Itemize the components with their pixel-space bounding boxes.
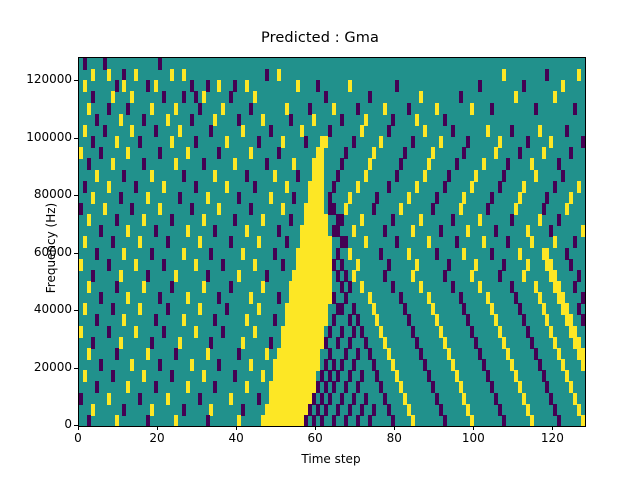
heatmap-cell	[166, 236, 170, 248]
heatmap-cell	[391, 214, 395, 226]
heatmap-cell	[95, 170, 99, 182]
heatmap-cell	[423, 125, 427, 137]
heatmap-cell	[225, 181, 229, 193]
heatmap-cell	[209, 337, 213, 349]
heatmap-cell	[581, 359, 585, 371]
heatmap-cell	[431, 147, 435, 159]
heatmap-cell	[217, 147, 221, 159]
heatmap-cell	[182, 170, 186, 182]
heatmap-cell	[241, 248, 245, 260]
heatmap-cell	[372, 147, 376, 159]
heatmap-cell	[435, 103, 439, 115]
heatmap-cell	[130, 203, 134, 215]
heatmap-cell	[340, 214, 344, 226]
heatmap-cell	[162, 181, 166, 193]
heatmap-cell	[474, 259, 478, 271]
heatmap-cell	[126, 147, 130, 159]
heatmap-cell	[91, 69, 95, 81]
heatmap-cell	[261, 114, 265, 126]
heatmap-cell	[344, 147, 348, 159]
heatmap-cell	[356, 381, 360, 393]
x-axis-tick-label: 0	[48, 431, 108, 445]
heatmap-cell	[245, 170, 249, 182]
heatmap-cell	[336, 170, 340, 182]
heatmap-cell	[83, 236, 87, 248]
x-axis-tick-label: 80	[364, 431, 424, 445]
heatmap-cell	[198, 236, 202, 248]
heatmap-cell	[170, 370, 174, 382]
heatmap-cell	[530, 415, 534, 427]
heatmap-cell	[146, 415, 150, 427]
x-axis-tick	[236, 426, 237, 430]
heatmap-cell	[95, 114, 99, 126]
heatmap-cell	[158, 147, 162, 159]
y-axis-tick	[74, 195, 78, 196]
heatmap-cell	[119, 337, 123, 349]
heatmap-cell	[122, 404, 126, 416]
chart-title: Predicted : Gma	[0, 30, 640, 46]
heatmap-cell	[506, 236, 510, 248]
heatmap-cell	[245, 80, 249, 92]
heatmap-cell	[209, 404, 213, 416]
heatmap-cell	[213, 114, 217, 126]
heatmap-cell	[202, 91, 206, 103]
heatmap-cell	[360, 125, 364, 137]
heatmap-cell	[387, 181, 391, 193]
heatmap-cell	[344, 203, 348, 215]
heatmap-cell	[245, 225, 249, 237]
heatmap-cell	[391, 114, 395, 126]
heatmap-cell	[79, 147, 83, 159]
heatmap-cell	[344, 415, 348, 427]
heatmap-cell	[253, 259, 257, 271]
heatmap-cell	[419, 281, 423, 293]
heatmap-cell	[383, 270, 387, 282]
x-axis-tick-label: 40	[206, 431, 266, 445]
x-axis-tick	[552, 426, 553, 430]
heatmap-cell	[142, 114, 146, 126]
heatmap-cell	[138, 393, 142, 405]
heatmap-cell	[249, 292, 253, 304]
heatmap-cell	[87, 158, 91, 170]
heatmap-cell	[443, 114, 447, 126]
heatmap-cell	[206, 348, 210, 360]
heatmap-cell	[107, 393, 111, 405]
heatmap-cell	[340, 359, 344, 371]
heatmap-cell	[225, 136, 229, 148]
heatmap-cell	[494, 147, 498, 159]
heatmap-cell	[391, 281, 395, 293]
heatmap-cell	[119, 192, 123, 204]
heatmap-cell	[348, 281, 352, 293]
heatmap-cell	[518, 147, 522, 159]
heatmap-cell	[91, 337, 95, 349]
heatmap-cell	[553, 181, 557, 193]
heatmap-cell	[518, 248, 522, 260]
heatmap-cell	[545, 192, 549, 204]
heatmap-cell	[352, 225, 356, 237]
heatmap-cell	[142, 370, 146, 382]
heatmap-cell	[233, 80, 237, 92]
heatmap-cell	[577, 69, 581, 81]
heatmap-cell	[383, 103, 387, 115]
heatmap-cell	[146, 270, 150, 282]
heatmap-cell	[170, 136, 174, 148]
heatmap-cell	[107, 259, 111, 271]
heatmap-cell	[178, 125, 182, 137]
heatmap-cell	[261, 281, 265, 293]
heatmap-cell	[368, 158, 372, 170]
heatmap-cell	[91, 91, 95, 103]
heatmap-cell	[486, 203, 490, 215]
heatmap-cell	[407, 248, 411, 260]
heatmap-cell	[87, 415, 91, 427]
y-axis-tick	[74, 310, 78, 311]
heatmap-cell	[209, 125, 213, 137]
y-axis-tick-label: 120000	[0, 72, 72, 86]
y-axis-tick-label: 80000	[0, 187, 72, 201]
heatmap-cell	[99, 359, 103, 371]
heatmap-cell	[249, 147, 253, 159]
heatmap-cell	[134, 259, 138, 271]
heatmap-cell	[79, 326, 83, 338]
heatmap-cell	[565, 125, 569, 137]
heatmap-cell	[83, 303, 87, 315]
heatmap-cell	[261, 214, 265, 226]
heatmap-cell	[447, 259, 451, 271]
heatmap-cell	[348, 248, 352, 260]
heatmap-cell	[154, 225, 158, 237]
heatmap-cell	[419, 91, 423, 103]
heatmap-cell	[237, 270, 241, 282]
heatmap-cell	[387, 259, 391, 271]
heatmap-cell	[557, 415, 561, 427]
heatmap-cell	[340, 303, 344, 315]
heatmap-cell	[115, 348, 119, 360]
heatmap-cell	[569, 192, 573, 204]
heatmap-cell	[253, 91, 257, 103]
heatmap-cell	[569, 147, 573, 159]
heatmap-cell	[435, 192, 439, 204]
heatmap-cell	[269, 337, 273, 349]
heatmap-cell	[186, 225, 190, 237]
heatmap-cell	[261, 370, 265, 382]
heatmap-cell	[379, 136, 383, 148]
heatmap-cell	[372, 203, 376, 215]
heatmap-cell	[573, 236, 577, 248]
heatmap-cell	[482, 158, 486, 170]
heatmap-cell	[340, 393, 344, 405]
heatmap-cell	[419, 214, 423, 226]
heatmap-cell	[277, 292, 281, 304]
heatmap-cell	[344, 292, 348, 304]
heatmap-cell	[383, 225, 387, 237]
heatmap-cell	[253, 181, 257, 193]
heatmap-cell	[348, 80, 352, 92]
heatmap-cell	[257, 303, 261, 315]
heatmap-cell	[103, 125, 107, 137]
heatmap-cell	[553, 236, 557, 248]
x-axis-tick	[473, 426, 474, 430]
heatmap-cell	[134, 326, 138, 338]
heatmap-cell	[281, 203, 285, 215]
heatmap-cell	[221, 326, 225, 338]
y-axis-tick	[74, 80, 78, 81]
y-axis-tick	[74, 425, 78, 426]
x-axis-tick-label: 120	[522, 431, 582, 445]
heatmap-cell	[415, 114, 419, 126]
heatmap-cell	[490, 103, 494, 115]
heatmap-cell	[257, 236, 261, 248]
heatmap-cell	[213, 225, 217, 237]
heatmap-cell	[292, 192, 296, 204]
heatmap-cell	[221, 103, 225, 115]
heatmap-cell	[122, 170, 126, 182]
heatmap-cell	[399, 203, 403, 215]
y-axis-tick-label: 60000	[0, 245, 72, 259]
heatmap-cell	[459, 91, 463, 103]
heatmap-cell	[91, 136, 95, 148]
heatmap-cell	[348, 192, 352, 204]
heatmap-cell	[111, 370, 115, 382]
heatmap-cell	[522, 80, 526, 92]
heatmap-cell	[443, 270, 447, 282]
x-axis-tick	[78, 426, 79, 430]
heatmap-cell	[352, 136, 356, 148]
heatmap-cell	[202, 214, 206, 226]
heatmap-cell	[395, 80, 399, 92]
heatmap-cell	[154, 125, 158, 137]
heatmap-cell	[375, 192, 379, 204]
heatmap-cell	[403, 147, 407, 159]
heatmap-cell	[542, 203, 546, 215]
heatmap-cell	[526, 136, 530, 148]
heatmap-cell	[348, 337, 352, 349]
heatmap-cell	[328, 326, 332, 338]
heatmap-cell	[561, 80, 565, 92]
heatmap-cell	[91, 404, 95, 416]
heatmap-cell	[549, 136, 553, 148]
heatmap-cell	[166, 393, 170, 405]
y-axis-tick-label: 20000	[0, 360, 72, 374]
heatmap-cell	[538, 125, 542, 137]
heatmap-cell	[336, 404, 340, 416]
heatmap-cell	[462, 147, 466, 159]
heatmap-cell	[478, 80, 482, 92]
heatmap-cell	[134, 69, 138, 81]
heatmap-cell	[178, 192, 182, 204]
heatmap-cell	[273, 170, 277, 182]
heatmap-cell	[364, 114, 368, 126]
heatmap-cell	[170, 69, 174, 81]
heatmap-cell	[142, 214, 146, 226]
heatmap-cell	[462, 192, 466, 204]
heatmap-cell	[522, 270, 526, 282]
heatmap-cell	[206, 270, 210, 282]
heatmap-cell	[296, 170, 300, 182]
heatmap-cell	[130, 91, 134, 103]
heatmap-cell	[451, 281, 455, 293]
heatmap-cell	[87, 214, 91, 226]
heatmap-cell	[538, 214, 542, 226]
heatmap-cell	[174, 348, 178, 360]
heatmap-cell	[324, 91, 328, 103]
heatmap-cell	[498, 136, 502, 148]
heatmap-cell	[577, 270, 581, 282]
heatmap-cell	[324, 136, 328, 148]
heatmap-cell	[107, 103, 111, 115]
heatmap-cell	[83, 370, 87, 382]
heatmap-cell	[202, 158, 206, 170]
heatmap-cell	[289, 214, 293, 226]
heatmap-cell	[138, 136, 142, 148]
heatmap-cell	[170, 281, 174, 293]
heatmap-cell	[115, 214, 119, 226]
heatmap-cell	[273, 314, 277, 326]
heatmap-cell	[364, 170, 368, 182]
heatmap-cell	[115, 281, 119, 293]
heatmap-cell	[356, 103, 360, 115]
heatmap-cell	[526, 259, 530, 271]
heatmap-cell	[328, 393, 332, 405]
heatmap-cell	[194, 181, 198, 193]
heatmap-cell	[510, 214, 514, 226]
heatmap-cell	[249, 103, 253, 115]
heatmap-cell	[182, 69, 186, 81]
heatmap-cell	[217, 80, 221, 92]
heatmap-cell	[198, 393, 202, 405]
heatmap-cell	[158, 359, 162, 371]
y-axis-tick	[74, 253, 78, 254]
heatmap-cell	[225, 303, 229, 315]
x-axis-tick-label: 60	[285, 431, 345, 445]
heatmap-cell	[478, 281, 482, 293]
heatmap-cell	[332, 103, 336, 115]
heatmap-cell	[502, 259, 506, 271]
heatmap-cell	[510, 125, 514, 137]
heatmap-cell	[91, 270, 95, 282]
heatmap-cell	[494, 225, 498, 237]
heatmap-cell	[522, 181, 526, 193]
heatmap-cell	[459, 203, 463, 215]
heatmap-cell	[115, 136, 119, 148]
heatmap-cell	[209, 248, 213, 260]
heatmap-cell	[182, 91, 186, 103]
heatmap-cell	[356, 415, 360, 427]
heatmap-cell	[502, 69, 506, 81]
heatmap-cell	[372, 404, 376, 416]
heatmap-cell	[202, 370, 206, 382]
heatmap-cell	[182, 248, 186, 260]
heatmap-cell	[455, 236, 459, 248]
heatmap-cell	[138, 236, 142, 248]
heatmap-cell	[439, 225, 443, 237]
heatmap-cell	[91, 192, 95, 204]
heatmap-cell	[150, 170, 154, 182]
heatmap-cell	[324, 404, 328, 416]
heatmap-cell	[427, 158, 431, 170]
heatmap-cell	[356, 348, 360, 360]
heatmap-cell	[158, 58, 162, 70]
heatmap-cell	[451, 125, 455, 137]
heatmap-cell	[217, 203, 221, 215]
heatmap-cell	[407, 103, 411, 115]
heatmap-cell	[439, 136, 443, 148]
heatmap-cell	[399, 158, 403, 170]
heatmap-cell	[360, 281, 364, 293]
heatmap-cell	[486, 125, 490, 137]
heatmap-cell	[79, 393, 83, 405]
heatmap-cell	[186, 381, 190, 393]
heatmap-cell	[166, 303, 170, 315]
heatmap-cell	[415, 181, 419, 193]
heatmap-cell	[186, 147, 190, 159]
heatmap-cell	[166, 114, 170, 126]
heatmap-cell	[289, 114, 293, 126]
heatmap-cell	[557, 214, 561, 226]
heatmap-cell	[154, 80, 158, 92]
heatmap-cell	[360, 404, 364, 416]
heatmap-cell	[336, 370, 340, 382]
heatmap-cell	[87, 281, 91, 293]
heatmap-cell	[478, 214, 482, 226]
heatmap-cell	[304, 136, 308, 148]
heatmap-cell	[352, 359, 356, 371]
heatmap-cell	[237, 415, 241, 427]
heatmap-cell	[411, 270, 415, 282]
heatmap-cell	[356, 259, 360, 271]
heatmap-cell	[368, 91, 372, 103]
heatmap-cell	[360, 214, 364, 226]
heatmap-cell	[79, 203, 83, 215]
heatmap-cell	[336, 337, 340, 349]
heatmap-cell	[502, 415, 506, 427]
heatmap-cell	[360, 370, 364, 382]
heatmap-cell	[178, 337, 182, 349]
heatmap-cell	[158, 292, 162, 304]
heatmap-cell	[107, 69, 111, 81]
heatmap-cell	[352, 270, 356, 282]
heatmap-cell	[245, 381, 249, 393]
heatmap-cell	[581, 415, 585, 427]
heatmap-cell	[285, 181, 289, 193]
heatmap-cell	[150, 337, 154, 349]
heatmap-cell	[150, 103, 154, 115]
heatmap-cell	[249, 203, 253, 215]
heatmap-cell	[119, 270, 123, 282]
heatmap-cell	[474, 170, 478, 182]
heatmap-cell	[462, 248, 466, 260]
heatmap-cell	[158, 203, 162, 215]
heatmap-cell	[364, 393, 368, 405]
heatmap-cell	[466, 225, 470, 237]
heatmap-cell	[99, 147, 103, 159]
heatmap-cell	[581, 314, 585, 326]
heatmap-cell	[111, 303, 115, 315]
heatmap-cell	[490, 248, 494, 260]
heatmap-cell	[518, 192, 522, 204]
y-axis-tick-label: 100000	[0, 130, 72, 144]
heatmap-cell	[174, 158, 178, 170]
heatmap-cell	[146, 348, 150, 360]
heatmap-cell	[277, 225, 281, 237]
heatmap-cell	[281, 136, 285, 148]
heatmap-cell	[470, 103, 474, 115]
heatmap-cell	[229, 281, 233, 293]
heatmap-cell	[162, 326, 166, 338]
heatmap-cell	[206, 80, 210, 92]
heatmap-cell	[320, 415, 324, 427]
